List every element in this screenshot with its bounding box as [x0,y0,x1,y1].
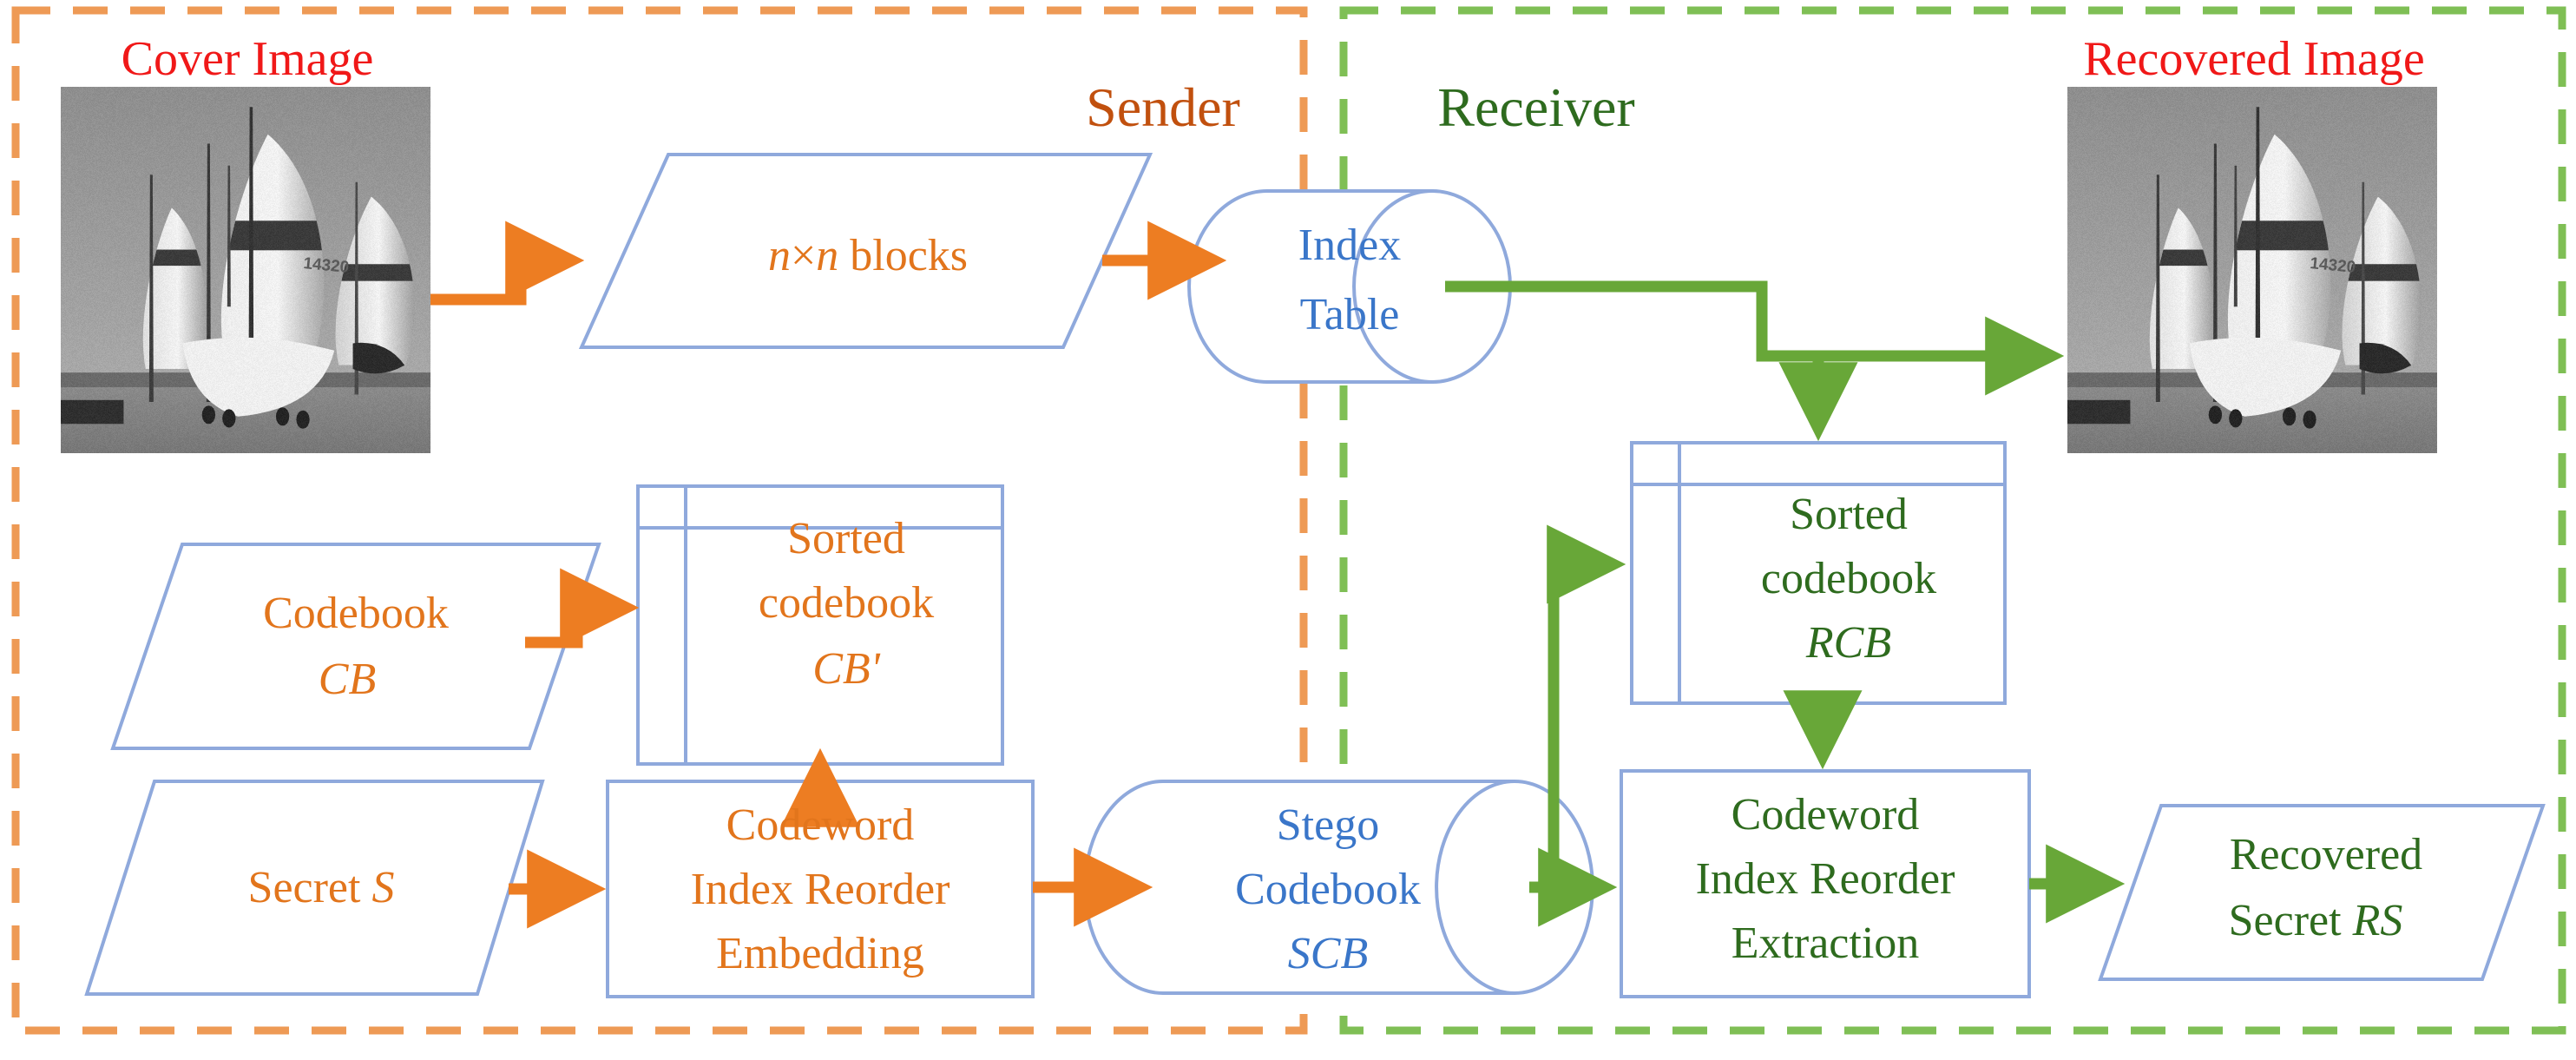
embedding-shape[interactable] [608,781,1033,997]
secret-s-shape[interactable] [87,781,542,994]
edge-index-to-recovered-image [1445,286,2048,356]
diagram-canvas: Cover Image Recovered Image Sender Recei… [0,0,2576,1060]
edge-cover-to-blocks [417,260,568,300]
cover-image-photo [61,87,430,453]
nxn-blocks-shape[interactable] [582,155,1150,347]
extraction-shape[interactable] [1621,771,2029,997]
recovered-secret-shape[interactable] [2100,806,2543,979]
recovered-image-photo [2067,87,2437,453]
sorted-codebook-rcb-shape[interactable] [1632,443,2005,703]
stego-codebook-shape[interactable] [1085,781,1593,993]
sorted-codebook-cb-shape[interactable] [638,486,1002,764]
